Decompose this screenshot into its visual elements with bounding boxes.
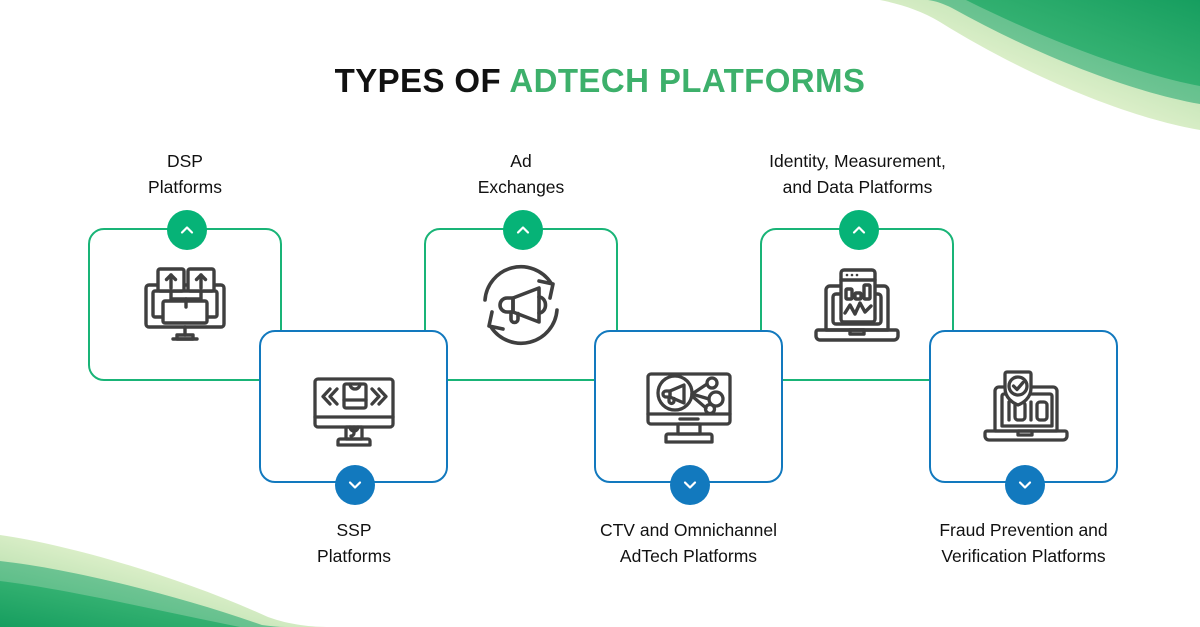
card-ad-exchanges[interactable]: [424, 228, 618, 381]
card-ssp[interactable]: [259, 330, 448, 483]
laptop-binary-shield-check-icon: [931, 332, 1116, 481]
card-fraud-prevention[interactable]: [929, 330, 1118, 483]
chevron-down-icon-ssp[interactable]: [335, 465, 375, 505]
card-identity-measurement-data[interactable]: [760, 228, 954, 381]
card-label-identity-measurement-data: Identity, Measurement, and Data Platform…: [715, 148, 1000, 200]
chevron-up-icon-ad-exchanges[interactable]: [503, 210, 543, 250]
page-title: TYPES OF ADTECH PLATFORMS: [0, 62, 1200, 100]
card-label-ctv-omnichannel: CTV and Omnichannel AdTech Platforms: [546, 517, 831, 569]
chevron-up-icon-dsp[interactable]: [167, 210, 207, 250]
laptop-analytics-dashboard-icon: [762, 230, 952, 379]
chevron-up-icon-identity-measurement-data[interactable]: [839, 210, 879, 250]
monitor-upload-arrows-icon: [90, 230, 280, 379]
card-label-fraud-prevention: Fraud Prevention and Verification Platfo…: [881, 517, 1166, 569]
megaphone-refresh-cycle-icon: [426, 230, 616, 379]
card-label-ad-exchanges: Ad Exchanges: [421, 148, 621, 200]
page-title-accent: ADTECH PLATFORMS: [509, 62, 865, 99]
chevron-down-icon-fraud-prevention[interactable]: [1005, 465, 1045, 505]
page-title-plain: TYPES OF: [335, 62, 510, 99]
monitor-megaphone-network-icon: [596, 332, 781, 481]
card-ctv-omnichannel[interactable]: [594, 330, 783, 483]
infographic-canvas: TYPES OF ADTECH PLATFORMS DSP Platforms …: [0, 0, 1200, 627]
card-dsp[interactable]: [88, 228, 282, 381]
card-label-dsp: DSP Platforms: [85, 148, 285, 200]
chevron-down-icon-ctv-omnichannel[interactable]: [670, 465, 710, 505]
card-label-ssp: SSP Platforms: [254, 517, 454, 569]
monitor-package-chevrons-icon: [261, 332, 446, 481]
